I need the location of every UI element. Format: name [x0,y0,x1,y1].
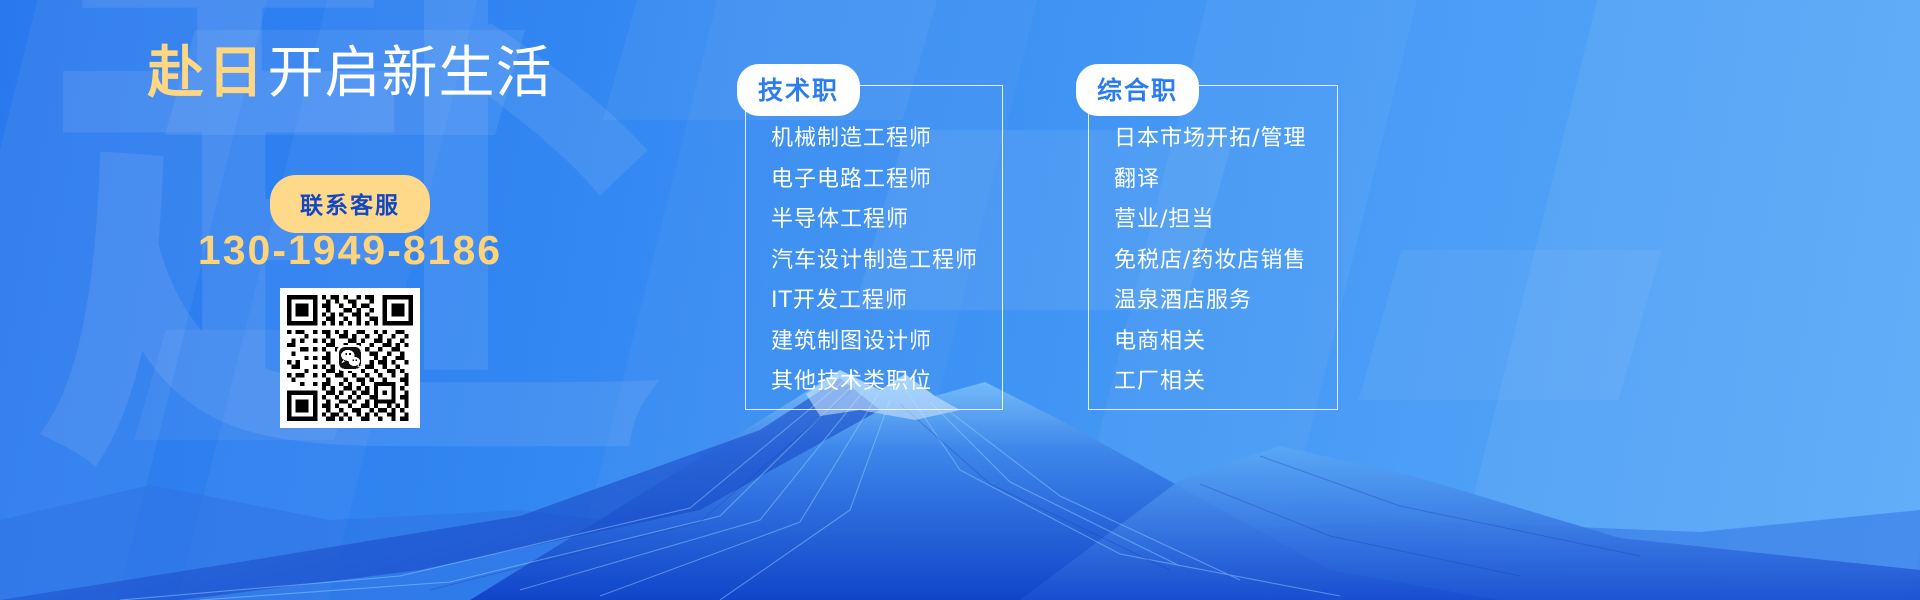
left-content-column: 赴日开启新生活 联系客服 130-1949-8186 [0,0,700,600]
promo-banner: 赴 [0,0,1920,600]
panel-label-general[interactable]: 综合职 [1076,64,1199,116]
contact-support-button[interactable]: 联系客服 [270,175,430,233]
job-item[interactable]: 汽车设计制造工程师 [771,241,1003,282]
job-item[interactable]: 工厂相关 [1114,362,1338,403]
job-item[interactable]: 营业/担当 [1114,200,1338,241]
qr-code-image [287,295,413,421]
highlight-shape [1358,250,1661,400]
job-item[interactable]: 电商相关 [1114,322,1338,363]
wechat-icon [337,345,363,371]
job-list-tech: 机械制造工程师 电子电路工程师 半导体工程师 汽车设计制造工程师 IT开发工程师… [745,85,1003,403]
job-item[interactable]: 免税店/药妆店销售 [1114,241,1338,282]
job-item[interactable]: 建筑制图设计师 [771,322,1003,363]
headline-rest: 开启新生活 [268,41,553,106]
light-band [1423,0,1920,600]
job-panel-general: 综合职 日本市场开拓/管理 翻译 营业/担当 免税店/药妆店销售 温泉酒店服务 … [1088,85,1338,410]
job-list-general: 日本市场开拓/管理 翻译 营业/担当 免税店/药妆店销售 温泉酒店服务 电商相关… [1088,85,1338,403]
job-item[interactable]: 其他技术类职位 [771,362,1003,403]
headline-accent: 赴日 [148,41,268,106]
phone-number[interactable]: 130-1949-8186 [0,227,700,274]
job-item[interactable]: 机械制造工程师 [771,119,1003,160]
page-title: 赴日开启新生活 [0,42,700,106]
job-panel-tech: 技术职 机械制造工程师 电子电路工程师 半导体工程师 汽车设计制造工程师 IT开… [745,85,1003,410]
job-item[interactable]: 日本市场开拓/管理 [1114,119,1338,160]
job-item[interactable]: IT开发工程师 [771,281,1003,322]
wechat-qr-code[interactable] [280,288,420,428]
job-item[interactable]: 电子电路工程师 [771,160,1003,201]
job-item[interactable]: 温泉酒店服务 [1114,281,1338,322]
panel-label-tech[interactable]: 技术职 [737,64,860,116]
job-item[interactable]: 半导体工程师 [771,200,1003,241]
job-item[interactable]: 翻译 [1114,160,1338,201]
